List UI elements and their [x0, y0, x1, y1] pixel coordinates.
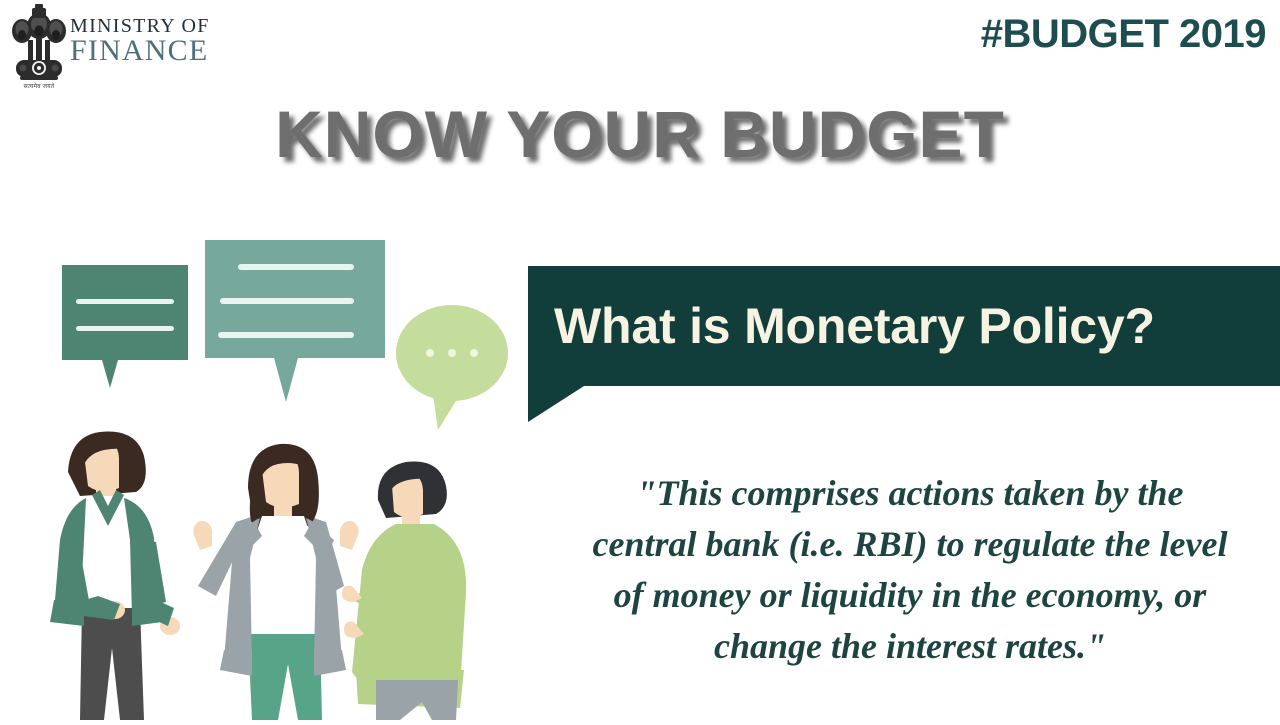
ellipsis-speech-bubble [396, 305, 508, 430]
ashoka-lion-capital-emblem-icon: सत्यमेव जयते [8, 4, 70, 98]
small-speech-bubble [62, 265, 188, 388]
illustration-people-talking [40, 240, 540, 720]
quote-line: central bank (i.e. RBI) to regulate the … [548, 519, 1272, 570]
quote-line: of money or liquidity in the economy, or [548, 570, 1272, 621]
question-text: What is Monetary Policy? [528, 297, 1155, 355]
question-banner: What is Monetary Policy? [528, 266, 1280, 386]
large-speech-bubble [205, 240, 385, 402]
page-title: KNOW YOUR BUDGET [0, 96, 1280, 172]
figure-center [193, 444, 358, 720]
budget-infographic-poster: सत्यमेव जयते MINISTRY OF FINANCE #BUDGET… [0, 0, 1280, 720]
quote-line: change the interest rates." [548, 621, 1272, 672]
budget-hashtag: #BUDGET 2019 [981, 12, 1266, 57]
header: सत्यमेव जयते MINISTRY OF FINANCE #BUDGET… [0, 0, 1280, 100]
emblem-caption: सत्यमेव जयते [8, 82, 70, 90]
banner-tail-shape [528, 386, 584, 422]
quote-line: "This comprises actions taken by the [548, 468, 1272, 519]
figure-left [50, 432, 180, 721]
ministry-name: MINISTRY OF FINANCE [70, 16, 220, 67]
ministry-line-1: MINISTRY OF [70, 16, 220, 36]
answer-quote: "This comprises actions taken by the cen… [548, 468, 1272, 672]
ministry-line-2: FINANCE [70, 35, 220, 67]
figure-right [342, 462, 466, 721]
ministry-of-finance-logo: सत्यमेव जयते MINISTRY OF FINANCE [8, 4, 218, 100]
